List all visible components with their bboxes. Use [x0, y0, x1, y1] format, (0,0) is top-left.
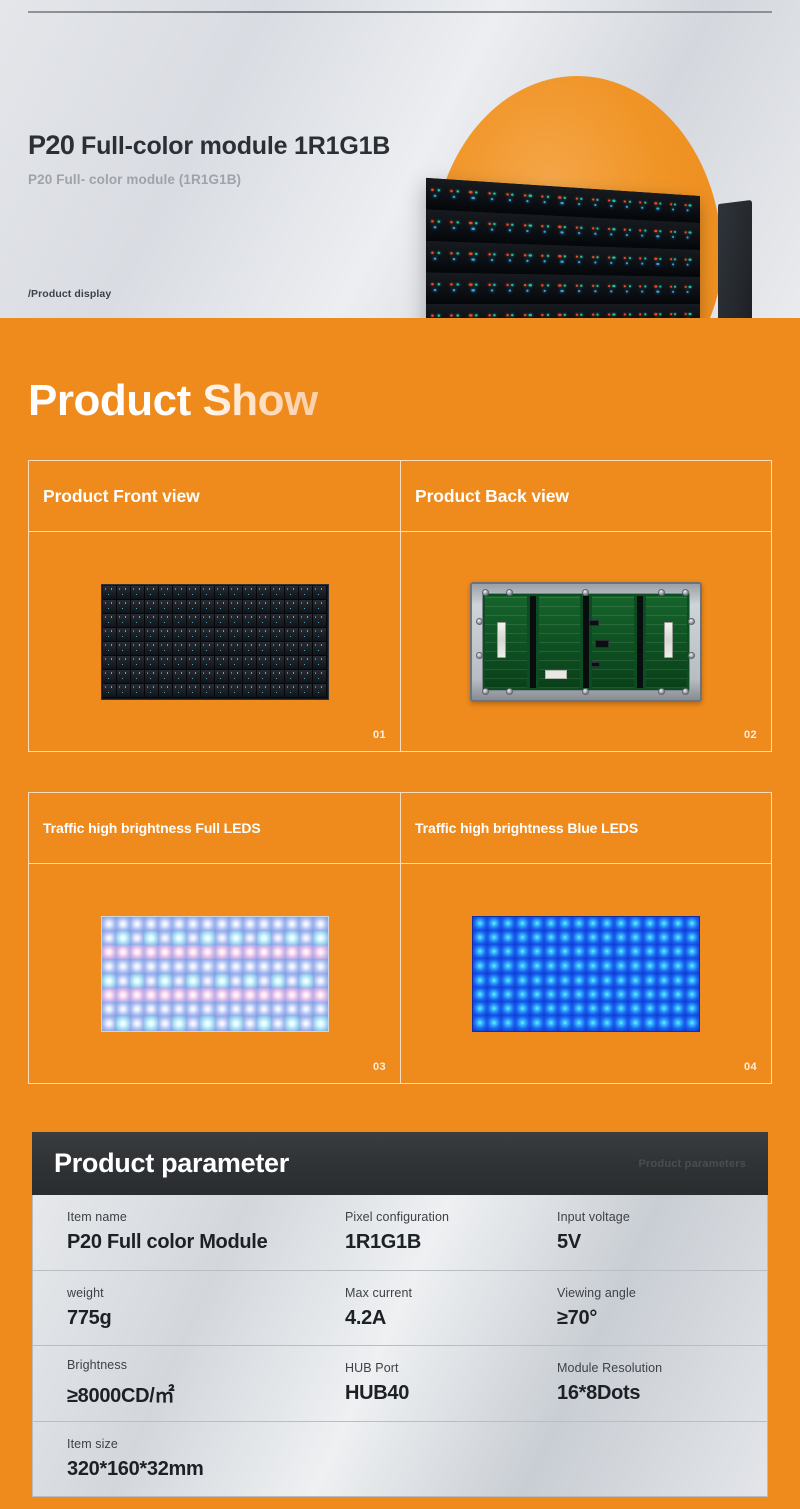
led-pixel	[473, 959, 487, 973]
led-pixel	[186, 1002, 200, 1016]
led-pixel	[130, 945, 144, 959]
led-pixel	[685, 988, 699, 1002]
led-pixel	[257, 642, 271, 655]
led-pixel	[299, 988, 313, 1002]
led-pixel	[187, 600, 201, 613]
led-pixel	[285, 945, 299, 959]
led-pixel	[501, 974, 515, 988]
led-pixel	[607, 256, 622, 266]
led-pixel	[572, 974, 586, 988]
led-pixel	[158, 1002, 172, 1016]
card-number: 04	[744, 1061, 757, 1073]
led-pixel	[313, 1002, 327, 1016]
product-card-full-leds[interactable]: Traffic high brightness Full LEDS 03	[29, 793, 400, 1083]
led-pixel	[200, 988, 214, 1002]
table-cell: Pixel configuration 1R1G1B	[345, 1195, 557, 1270]
led-pixel	[229, 600, 243, 613]
led-pixel	[628, 959, 642, 973]
led-pixel	[285, 642, 299, 655]
param-value: HUB40	[345, 1382, 557, 1405]
param-label: Viewing angle	[557, 1286, 757, 1300]
led-pixel	[299, 931, 313, 945]
led-pixel	[600, 945, 614, 959]
led-pixel	[449, 283, 467, 293]
led-pixel	[299, 1016, 313, 1030]
led-pixel	[515, 1016, 529, 1030]
led-pixel	[215, 959, 229, 973]
led-pixel	[600, 1002, 614, 1016]
led-pixel	[487, 222, 504, 233]
led-pixel	[430, 188, 448, 200]
driver-chip	[595, 640, 609, 648]
led-pixel	[657, 917, 671, 931]
led-pixel	[574, 197, 589, 208]
led-pixel	[614, 945, 628, 959]
led-pixel	[544, 959, 558, 973]
led-pixel	[643, 1002, 657, 1016]
led-pixel	[299, 917, 313, 931]
led-module-back-pcb-image	[470, 582, 702, 702]
pcb-board	[482, 593, 690, 691]
led-pixel	[271, 614, 285, 627]
led-pixel	[145, 628, 159, 641]
table-cell: Max current 4.2A	[345, 1271, 557, 1346]
led-pixel	[215, 600, 229, 613]
table-row: Brightness ≥8000CD/㎡ HUB Port HUB40 Modu…	[33, 1346, 767, 1422]
led-pixel	[131, 670, 145, 683]
led-row	[473, 1002, 699, 1016]
led-pixel	[657, 974, 671, 988]
led-pixel	[144, 974, 158, 988]
led-row	[102, 988, 328, 1002]
led-pixel	[638, 201, 652, 211]
led-pixel	[243, 642, 257, 655]
led-pixel	[285, 959, 299, 973]
led-pixel	[523, 283, 539, 293]
led-pixel	[271, 600, 285, 613]
param-value: 1R1G1B	[345, 1231, 557, 1254]
led-pixel	[229, 974, 243, 988]
led-pixel	[313, 628, 327, 641]
led-pixel	[473, 917, 487, 931]
led-pixel	[299, 642, 313, 655]
led-pixel	[172, 1016, 186, 1030]
page-subtitle: P20 Full- color module (1R1G1B)	[28, 172, 241, 187]
led-pixel	[685, 1002, 699, 1016]
led-pixel	[487, 959, 501, 973]
led-row	[473, 917, 699, 931]
led-pixel	[586, 931, 600, 945]
card-heading: Product Front view	[29, 461, 400, 532]
led-pixel	[671, 1016, 685, 1030]
led-pixel	[614, 1002, 628, 1016]
led-pixel	[215, 614, 229, 627]
led-pixel	[501, 1016, 515, 1030]
led-pixel	[574, 284, 589, 294]
led-pixel	[285, 1002, 299, 1016]
led-pixel	[116, 959, 130, 973]
led-pixel	[487, 917, 501, 931]
led-pixel	[487, 283, 504, 293]
led-pixel	[643, 945, 657, 959]
led-row	[103, 684, 327, 698]
led-pixel	[172, 917, 186, 931]
led-pixel	[313, 931, 327, 945]
led-pixel	[614, 988, 628, 1002]
pcb-gap	[637, 596, 643, 688]
led-pixel	[131, 586, 145, 599]
led-pixel	[540, 224, 556, 235]
param-label: HUB Port	[345, 1361, 557, 1375]
led-pixel	[271, 974, 285, 988]
led-pixel	[557, 255, 573, 265]
led-pixel	[229, 959, 243, 973]
frame-screw	[476, 652, 483, 659]
frame-screw	[476, 618, 483, 625]
led-pixel	[116, 1002, 130, 1016]
led-pixel	[131, 656, 145, 669]
led-pixel	[643, 959, 657, 973]
led-pixel	[540, 195, 556, 206]
led-pixel	[313, 974, 327, 988]
led-pixel	[544, 1002, 558, 1016]
led-pixel	[215, 974, 229, 988]
led-row	[102, 974, 328, 988]
led-pixel	[257, 656, 271, 669]
frame-screw	[482, 589, 489, 596]
led-pixel	[669, 258, 683, 267]
led-pixel	[229, 614, 243, 627]
led-row	[473, 945, 699, 959]
product-card-front-view[interactable]: Product Front view 01	[29, 461, 400, 751]
table-cell: Viewing angle ≥70°	[557, 1271, 757, 1346]
led-pixel	[271, 917, 285, 931]
led-pixel	[643, 917, 657, 931]
led-pixel	[657, 945, 671, 959]
led-pixel	[313, 656, 327, 669]
led-row	[473, 931, 699, 945]
param-label: Pixel configuration	[345, 1210, 557, 1224]
led-pixel	[449, 220, 467, 231]
led-pixel	[117, 642, 131, 655]
led-pixel	[586, 945, 600, 959]
led-pixel	[116, 917, 130, 931]
led-pixel	[487, 945, 501, 959]
led-pixel	[102, 1002, 116, 1016]
led-pixel	[229, 945, 243, 959]
led-pixel	[487, 974, 501, 988]
led-pixel	[607, 199, 622, 209]
led-pixel	[144, 917, 158, 931]
led-pixel	[144, 959, 158, 973]
led-pixel	[544, 988, 558, 1002]
led-pixel	[200, 917, 214, 931]
led-pixel	[468, 221, 485, 232]
parameter-watermark: Product parameters	[638, 1158, 746, 1170]
led-pixel	[657, 1002, 671, 1016]
led-pixel	[685, 917, 699, 931]
led-pixel	[186, 974, 200, 988]
led-pixel	[299, 600, 313, 613]
led-pixel	[144, 988, 158, 1002]
led-pixel	[173, 586, 187, 599]
led-pixel	[243, 988, 257, 1002]
card-image-area: 02	[401, 532, 771, 751]
led-pixel	[313, 1016, 327, 1030]
led-pixel	[159, 600, 173, 613]
led-pixel	[558, 1016, 572, 1030]
led-pixel	[243, 974, 257, 988]
led-pixel	[172, 1002, 186, 1016]
led-pixel	[558, 1002, 572, 1016]
led-row	[102, 931, 328, 945]
led-pixel	[313, 670, 327, 683]
led-pixel	[271, 1002, 285, 1016]
led-pixel	[117, 656, 131, 669]
product-card-blue-leds[interactable]: Traffic high brightness Blue LEDS 04	[400, 793, 771, 1083]
led-pixel	[271, 628, 285, 641]
led-pixel	[145, 614, 159, 627]
param-value: 4.2A	[345, 1307, 557, 1330]
led-pixel	[487, 1016, 501, 1030]
led-pixel	[299, 974, 313, 988]
frame-screw	[582, 688, 589, 695]
led-pixel	[102, 988, 116, 1002]
led-pixel	[116, 988, 130, 1002]
led-pixel	[299, 684, 313, 697]
led-pixel	[515, 1002, 529, 1016]
led-pixel	[117, 670, 131, 683]
led-pixel	[229, 1016, 243, 1030]
led-pixel	[643, 988, 657, 1002]
led-pixel	[558, 917, 572, 931]
led-pixel	[628, 974, 642, 988]
led-pixel	[257, 684, 271, 697]
led-pixel	[487, 931, 501, 945]
led-pixel	[144, 1016, 158, 1030]
led-pixel	[116, 974, 130, 988]
param-value: ≥8000CD/㎡	[67, 1379, 345, 1408]
param-label: Module Resolution	[557, 1361, 757, 1375]
led-pixel	[572, 959, 586, 973]
led-pixel	[487, 253, 504, 264]
pcb-gap	[530, 596, 536, 688]
led-pixel	[159, 656, 173, 669]
led-pixel	[430, 282, 448, 293]
led-pixel	[201, 684, 215, 697]
led-pixel	[671, 1002, 685, 1016]
led-pixel	[172, 988, 186, 1002]
led-pixel	[285, 614, 299, 627]
led-pixel	[243, 1002, 257, 1016]
led-pixel	[299, 628, 313, 641]
led-pixel	[145, 586, 159, 599]
led-pixel	[243, 945, 257, 959]
led-pixel	[628, 988, 642, 1002]
led-row	[473, 988, 699, 1002]
led-pixel	[285, 684, 299, 697]
table-row: Item name P20 Full color Module Pixel co…	[33, 1195, 767, 1271]
led-pixel	[186, 931, 200, 945]
led-pixel	[487, 1002, 501, 1016]
parameter-header-bar: Product parameter Product parameters	[32, 1132, 768, 1195]
led-pixel	[501, 917, 515, 931]
led-pixel	[229, 917, 243, 931]
led-pixel	[257, 988, 271, 1002]
led-pixel	[173, 642, 187, 655]
led-pixel	[643, 931, 657, 945]
led-pixel	[473, 1002, 487, 1016]
frame-screw	[482, 688, 489, 695]
led-pixel	[473, 931, 487, 945]
frame-screw	[682, 589, 689, 596]
led-pixel	[487, 988, 501, 1002]
led-pixel	[103, 656, 117, 669]
led-pixel	[449, 189, 467, 200]
card-heading: Traffic high brightness Blue LEDS	[401, 793, 771, 864]
led-pixel	[130, 1002, 144, 1016]
led-pixel	[144, 1002, 158, 1016]
led-pixel	[557, 284, 573, 294]
led-pixel	[430, 251, 448, 262]
led-pixel	[229, 684, 243, 697]
led-pixel	[572, 945, 586, 959]
led-pixel	[271, 1016, 285, 1030]
led-pixel	[299, 614, 313, 627]
table-row: weight 775g Max current 4.2A Viewing ang…	[33, 1271, 767, 1347]
card-number: 02	[744, 729, 757, 741]
led-pixel	[159, 614, 173, 627]
led-pixel	[102, 1016, 116, 1030]
led-pixel	[229, 642, 243, 655]
led-pixel	[131, 600, 145, 613]
led-pixel	[200, 1016, 214, 1030]
led-pixel	[572, 1016, 586, 1030]
led-blue-glow-image	[472, 916, 700, 1032]
led-pixel	[117, 684, 131, 697]
led-pixel	[215, 917, 229, 931]
led-pixel	[638, 285, 652, 294]
led-pixel	[116, 945, 130, 959]
led-pixel	[505, 253, 522, 263]
led-pixel	[544, 945, 558, 959]
led-row	[102, 945, 328, 959]
hub-connector-left	[497, 622, 506, 658]
led-pixel	[515, 917, 529, 931]
led-pixel	[271, 670, 285, 683]
led-pixel	[229, 656, 243, 669]
frame-screw	[582, 589, 589, 596]
led-pixel	[257, 931, 271, 945]
led-row	[103, 670, 327, 684]
led-pixel	[271, 931, 285, 945]
led-pixel	[685, 931, 699, 945]
led-pixel	[572, 917, 586, 931]
led-pixel	[257, 1002, 271, 1016]
table-cell: Input voltage 5V	[557, 1195, 757, 1270]
led-pixel	[271, 684, 285, 697]
led-pixel	[544, 931, 558, 945]
led-row	[473, 959, 699, 973]
led-pixel	[285, 628, 299, 641]
led-pixel	[117, 600, 131, 613]
led-pixel	[172, 974, 186, 988]
led-pixel	[173, 684, 187, 697]
led-pixel	[159, 642, 173, 655]
led-pixel	[243, 917, 257, 931]
led-pixel	[600, 917, 614, 931]
led-pixel	[544, 974, 558, 988]
led-pixel	[215, 931, 229, 945]
led-pixel	[215, 670, 229, 683]
led-pixel	[487, 191, 504, 202]
led-pixel	[200, 974, 214, 988]
led-pixel	[501, 1002, 515, 1016]
led-pixel	[313, 959, 327, 973]
led-pixel	[586, 1002, 600, 1016]
led-pixel	[215, 586, 229, 599]
card-number: 03	[373, 1061, 386, 1073]
led-pixel	[144, 945, 158, 959]
led-pixel	[103, 684, 117, 697]
led-pixel	[159, 670, 173, 683]
table-cell	[557, 1422, 757, 1498]
product-card-grid-row-1: Product Front view 01 Product Back view	[28, 460, 772, 752]
param-value: 775g	[67, 1307, 345, 1330]
led-pixel	[215, 1016, 229, 1030]
led-pixel	[130, 931, 144, 945]
led-pixel	[638, 257, 652, 267]
pcb-gap	[583, 596, 589, 688]
led-pixel	[201, 586, 215, 599]
led-pixel	[572, 1002, 586, 1016]
led-pixel	[600, 931, 614, 945]
led-pixel	[586, 988, 600, 1002]
table-cell: weight 775g	[67, 1271, 345, 1346]
module-side-edge	[718, 200, 752, 318]
led-pixel	[657, 959, 671, 973]
led-pixel	[614, 931, 628, 945]
led-pixel	[158, 931, 172, 945]
led-pixel	[130, 988, 144, 1002]
led-pixel	[473, 974, 487, 988]
frame-screw	[506, 589, 513, 596]
led-pixel	[186, 959, 200, 973]
led-pixel	[102, 917, 116, 931]
led-pixel	[558, 959, 572, 973]
param-label: Brightness	[67, 1358, 345, 1372]
product-parameter-section: Product parameter Product parameters Ite…	[0, 1123, 800, 1509]
product-card-back-view[interactable]: Product Back view	[400, 461, 771, 751]
led-pixel	[505, 223, 522, 234]
led-pixel	[684, 285, 698, 294]
led-pixel	[558, 974, 572, 988]
led-pixel	[299, 1002, 313, 1016]
led-pixel	[530, 974, 544, 988]
led-pixel	[623, 256, 638, 266]
led-pixel	[313, 945, 327, 959]
param-label: Input voltage	[557, 1210, 757, 1224]
led-pixel	[103, 670, 117, 683]
led-pixel	[158, 988, 172, 1002]
led-pixel	[671, 959, 685, 973]
driver-chip	[589, 620, 599, 626]
led-pixel	[591, 255, 606, 265]
led-row	[102, 917, 328, 931]
led-pixel	[591, 198, 606, 208]
param-label: Max current	[345, 1286, 557, 1300]
led-pixel	[600, 959, 614, 973]
